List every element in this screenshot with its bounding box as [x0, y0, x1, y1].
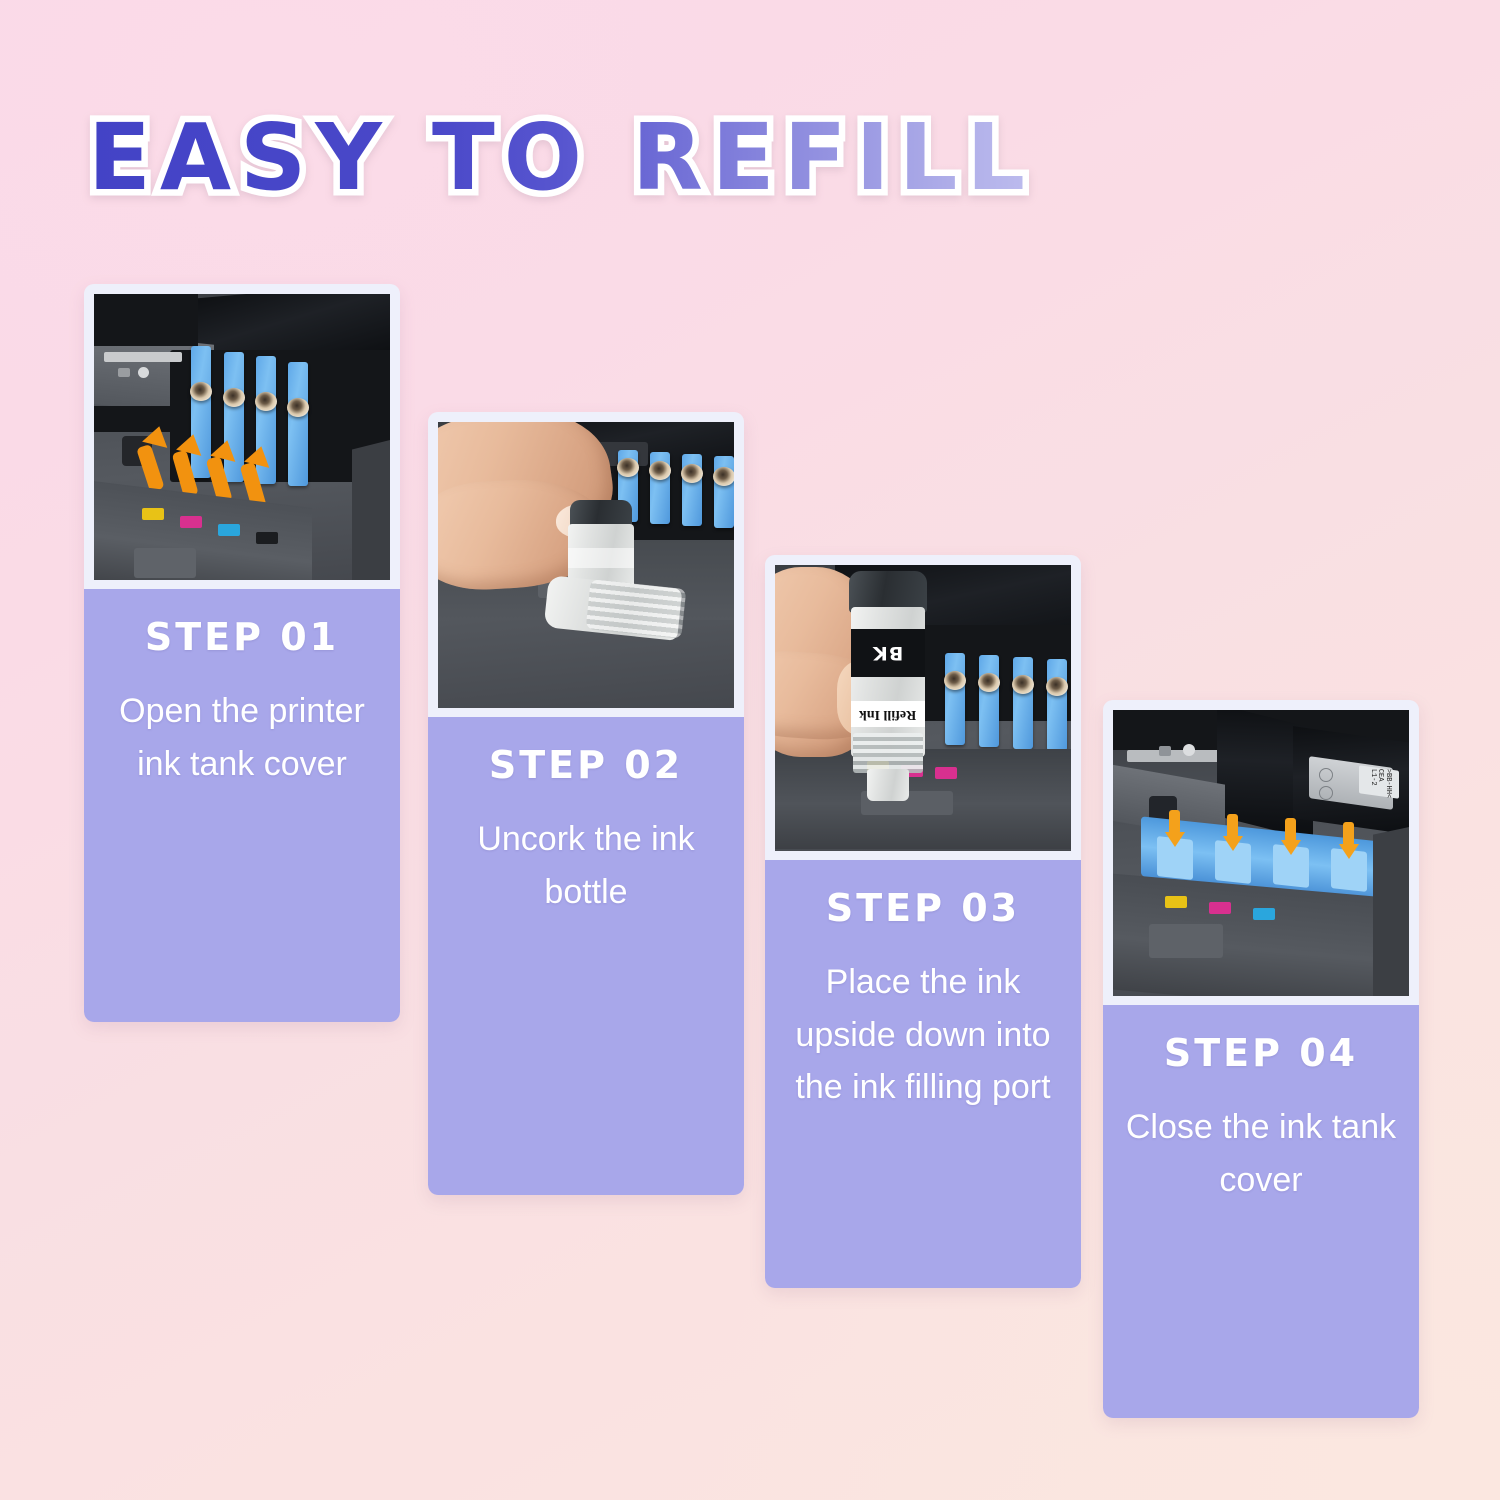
step-4-label: STEP 04	[1121, 1031, 1401, 1075]
step-3-photo-frame: BK Refill Ink	[765, 555, 1081, 860]
step-3-label: STEP 03	[783, 886, 1063, 930]
step-card-1: STEP 01 Open the printer ink tank cover	[84, 284, 400, 1022]
step-2-description: Uncork the ink bottle	[446, 813, 726, 918]
step-4-description: Close the ink tank cover	[1121, 1101, 1401, 1206]
step-1-label: STEP 01	[102, 615, 382, 659]
step-1-photo-frame	[84, 284, 400, 589]
step-card-2: STEP 02 Uncork the ink bottle	[428, 412, 744, 1195]
bottle-label-bk: BK	[872, 642, 903, 664]
page-title: EASY TO REFILL EASY TO REFILL	[88, 112, 1034, 204]
printer-open-caps-icon	[94, 294, 390, 580]
step-1-panel: STEP 01 Open the printer ink tank cover	[84, 589, 400, 1022]
step-card-4: >BB-HH<CEAL1-2 STEP 04 Close t	[1103, 700, 1419, 1418]
step-2-photo-frame	[428, 412, 744, 717]
step-3-description: Place the ink upside down into the ink f…	[783, 956, 1063, 1114]
step-4-photo-frame: >BB-HH<CEAL1-2	[1103, 700, 1419, 1005]
step-card-3: BK Refill Ink STEP 03 Place the ink upsi…	[765, 555, 1081, 1288]
step-1-description: Open the printer ink tank cover	[102, 685, 382, 790]
step-4-panel: STEP 04 Close the ink tank cover	[1103, 1005, 1419, 1418]
page-title-text: EASY TO REFILL	[88, 112, 1034, 204]
step-2-panel: STEP 02 Uncork the ink bottle	[428, 717, 744, 1195]
ink-bottle-uncork-icon	[438, 422, 734, 708]
step-3-panel: STEP 03 Place the ink upside down into t…	[765, 860, 1081, 1288]
step-2-label: STEP 02	[446, 743, 726, 787]
bottle-label-refill-ink: Refill Ink	[859, 706, 916, 722]
ink-bottle-insert-icon: BK Refill Ink	[775, 565, 1071, 851]
printer-close-caps-icon: >BB-HH<CEAL1-2	[1113, 710, 1409, 996]
